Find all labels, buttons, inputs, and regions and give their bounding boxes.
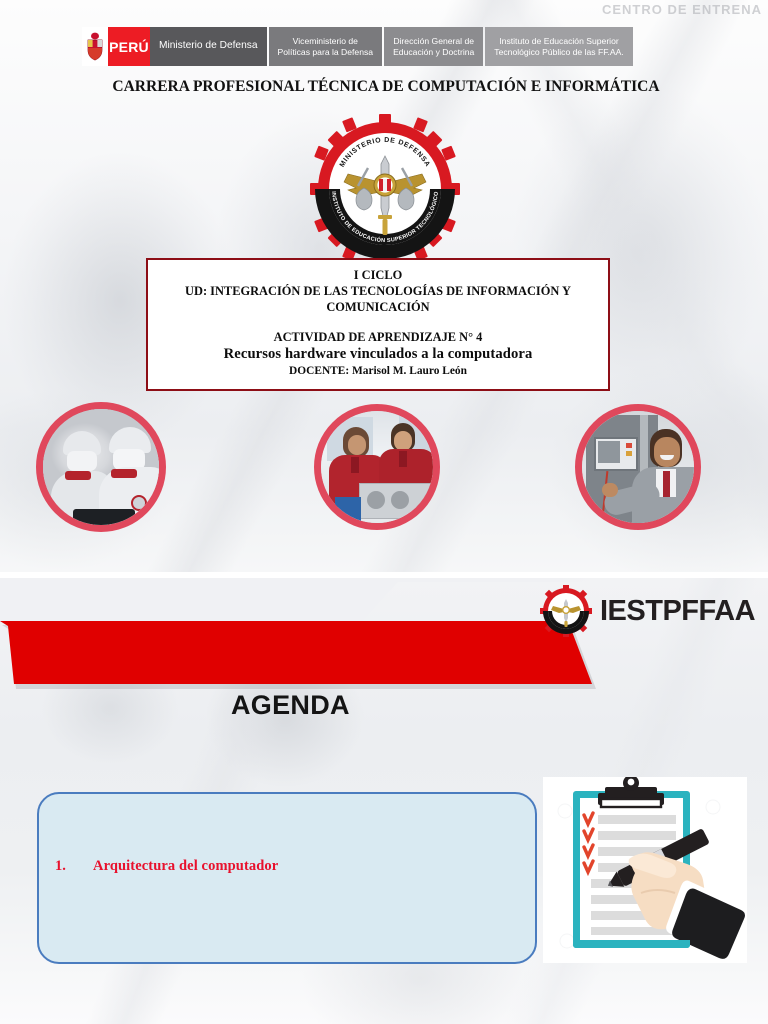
info-cycle: I CICLO [158,268,598,284]
iestpffaa-emblem-icon [540,585,592,637]
clipboard-illustration [543,777,747,963]
institution-emblem-icon: MINISTERIO DE DEFENSA INSTITUTO DE EDUCA… [308,112,462,266]
ministry-block-direccion: Dirección General de Educación y Doctrin… [384,27,483,66]
background-watermark-text: CENTRO DE ENTRENA [602,2,762,17]
course-info-box: I CICLO UD: INTEGRACIÓN DE LAS TECNOLOGÍ… [146,258,610,391]
ministry-block-instituto: Instituto de Educación Superior Tecnológ… [485,27,632,66]
info-topic: Recursos hardware vinculados a la comput… [158,345,598,364]
agenda-heading: AGENDA [231,690,350,721]
agenda-item-label: Arquitectura del computador [93,858,278,875]
info-activity: ACTIVIDAD DE APRENDIZAJE N° 4 [158,329,598,345]
photo-pc-image [321,411,433,523]
red-banner [0,618,600,686]
list-item: 1. Arquitectura del computador [49,858,519,875]
info-spacer [158,316,598,329]
photo-tech-image [582,411,694,523]
agenda-item-number: 1. [49,858,93,875]
presentation-page: CENTRO DE ENTRENA PERÚ Ministerio de Def… [0,0,768,1024]
info-teacher: DOCENTE: Marisol M. Lauro León [158,364,598,379]
ministry-block-ministerio: Ministerio de Defensa [150,27,267,66]
agenda-list: 1. Arquitectura del computador [49,858,519,875]
photo-lab-image [43,409,159,525]
ministry-logo-bar: PERÚ Ministerio de Defensa Viceministeri… [82,27,633,66]
ministry-block-viceministerio: Viceministerio de Políticas para la Defe… [269,27,383,66]
slide-title: CENTRO DE ENTRENA PERÚ Ministerio de Def… [0,0,768,572]
photo-circle-technician [575,404,701,530]
career-title: CARRERA PROFESIONAL TÉCNICA DE COMPUTACI… [96,78,676,97]
brand-lockup: IESTPFFAA [540,585,755,637]
info-unit: UD: INTEGRACIÓN DE LAS TECNOLOGÍAS DE IN… [158,284,598,316]
peru-label: PERÚ [108,27,150,66]
photo-circle-pc-assembly [314,404,440,530]
peru-coat-of-arms-icon [82,27,108,66]
photo-circle-laboratory [36,402,166,532]
agenda-box [37,792,537,964]
brand-name: IESTPFFAA [600,595,755,628]
